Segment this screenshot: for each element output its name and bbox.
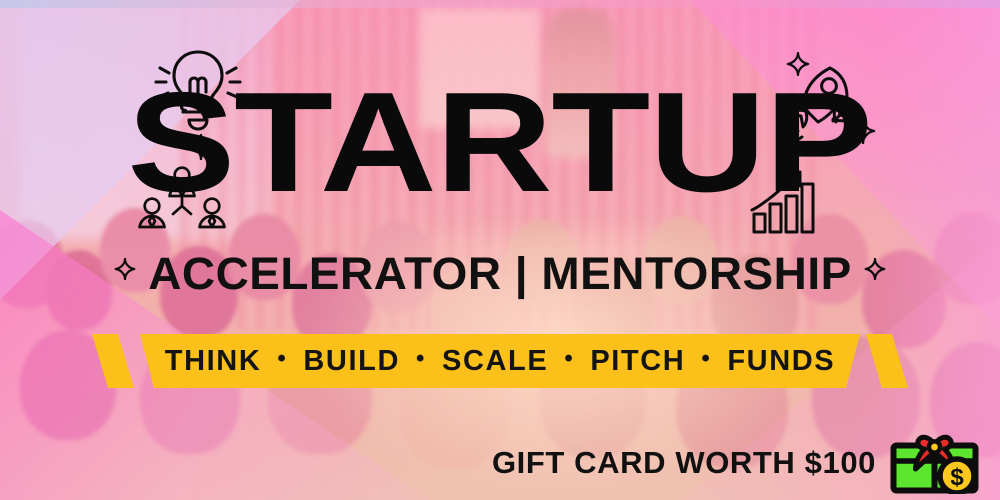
ribbon-item-build: BUILD [303, 345, 400, 378]
ribbon-separator: • [277, 347, 287, 371]
ribbon-separator: • [564, 347, 574, 371]
growth-chart-icon [750, 166, 824, 236]
team-network-icon [138, 166, 226, 234]
sparkle-icon [850, 118, 876, 144]
subtitle-text: ACCELERATOR | MENTORSHIP [0, 248, 1000, 300]
ribbon-item-funds: FUNDS [727, 345, 835, 378]
sparkle-icon [864, 258, 886, 280]
svg-text:$: $ [950, 464, 964, 491]
sparkle-icon [188, 134, 214, 160]
ribbon-item-scale: SCALE [442, 345, 548, 378]
gift-card-offer: GIFT CARD WORTH $100 $ [492, 432, 982, 494]
banner-content: STARTUP STARTUP ACCELERATOR | MENTORSHIP… [0, 0, 1000, 500]
gift-card-icon: $ [890, 432, 982, 494]
gift-card-text: GIFT CARD WORTH $100 [492, 445, 876, 481]
ribbon-separator: • [701, 347, 711, 371]
ribbon-item-pitch: PITCH [590, 345, 685, 378]
ribbon-item-think: THINK [165, 345, 262, 378]
sparkle-icon [786, 52, 810, 76]
ribbon-separator: • [416, 347, 426, 371]
ribbon-keywords: THINK • BUILD • SCALE • PITCH • FUNDS [92, 334, 908, 388]
startup-accelerator-banner: STARTUP STARTUP ACCELERATOR | MENTORSHIP… [0, 0, 1000, 500]
lightbulb-icon [150, 46, 246, 140]
keywords-ribbon: THINK • BUILD • SCALE • PITCH • FUNDS [92, 334, 908, 388]
